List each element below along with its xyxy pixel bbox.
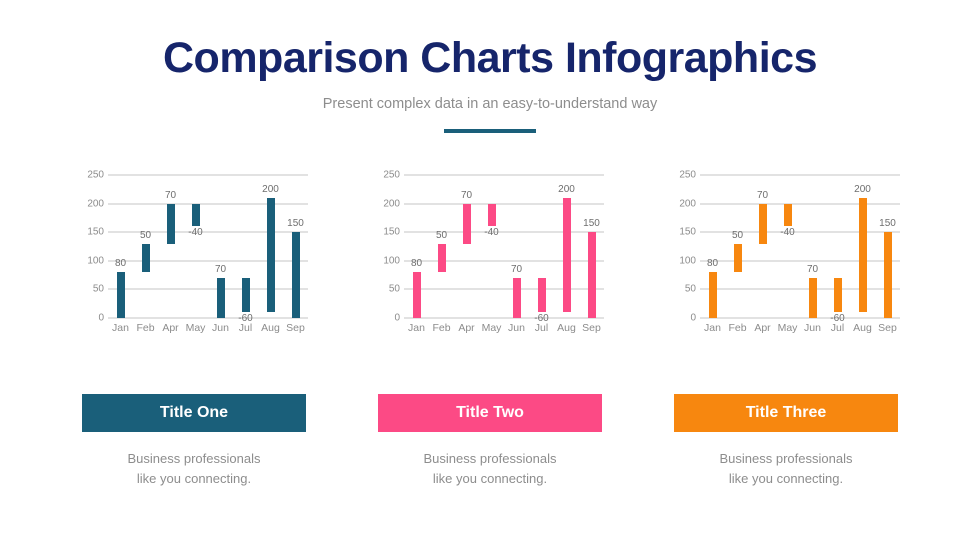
chart-bar-value-label: 200 [262, 184, 279, 195]
chart-bar[interactable] [117, 272, 125, 318]
waterfall-chart: 050100150200250805070-4070-60200150JanFe… [78, 175, 310, 350]
chart-bar[interactable] [142, 244, 150, 273]
column-title-label: Title One [160, 404, 228, 422]
chart-bar[interactable] [192, 204, 200, 227]
y-axis-tick-label: 200 [383, 198, 400, 209]
title-underline-accent [444, 129, 536, 133]
page-subtitle: Present complex data in an easy-to-under… [0, 96, 980, 112]
chart-bar-slot[interactable]: 200 [850, 175, 875, 318]
chart-bar-value-label: -40 [188, 227, 202, 238]
x-axis-tick-label: Apr [754, 322, 770, 334]
chart-bar-value-label: 80 [707, 258, 718, 269]
y-axis-tick-label: 250 [383, 170, 400, 181]
y-axis-tick-label: 0 [394, 313, 400, 324]
x-axis-tick-label: Aug [261, 322, 280, 334]
column-title-bar[interactable]: Title Three [674, 394, 898, 432]
chart-bar-slot[interactable]: -40 [183, 175, 208, 318]
chart-bar-value-label: 70 [757, 190, 768, 201]
chart-plot-area: 050100150200250805070-4070-60200150 [374, 175, 606, 327]
slide-header: Comparison Charts Infographics Present c… [0, 0, 980, 133]
comparison-column: 050100150200250805070-4070-60200150JanFe… [52, 175, 336, 489]
column-caption: Business professionalslike you connectin… [74, 449, 314, 489]
y-axis-tick-label: 100 [383, 255, 400, 266]
x-axis-tick-label: May [482, 322, 502, 334]
chart-bar[interactable] [267, 198, 275, 312]
y-axis-tick-label: 250 [679, 170, 696, 181]
chart-bar-slot[interactable]: 150 [875, 175, 900, 318]
chart-bar-value-label: -40 [780, 227, 794, 238]
x-axis-tick-label: Aug [557, 322, 576, 334]
column-title-label: Title Two [456, 404, 524, 422]
chart-bar-value-label: 150 [583, 218, 600, 229]
chart-bar[interactable] [167, 204, 175, 244]
waterfall-chart: 050100150200250805070-4070-60200150JanFe… [670, 175, 902, 350]
chart-bar-value-label: 50 [140, 230, 151, 241]
chart-bar[interactable] [242, 278, 250, 312]
x-axis-tick-label: May [186, 322, 206, 334]
comparison-column: 050100150200250805070-4070-60200150JanFe… [644, 175, 928, 489]
chart-bar-slot[interactable]: -60 [825, 175, 850, 318]
x-axis-tick-label: Jun [804, 322, 821, 334]
x-axis-tick-label: Feb [432, 322, 450, 334]
chart-bar-value-label: 200 [854, 184, 871, 195]
infographic-slide: Comparison Charts Infographics Present c… [0, 0, 980, 549]
x-axis-tick-label: Jan [408, 322, 425, 334]
chart-plot-area: 050100150200250805070-4070-60200150 [78, 175, 310, 327]
y-axis-labels: 050100150200250 [78, 175, 104, 318]
chart-bar[interactable] [784, 204, 792, 227]
chart-bar-value-label: 70 [807, 264, 818, 275]
comparison-columns: 050100150200250805070-4070-60200150JanFe… [0, 175, 980, 489]
chart-bar-slot[interactable]: 70 [750, 175, 775, 318]
column-caption: Business professionalslike you connectin… [370, 449, 610, 489]
chart-bar[interactable] [709, 272, 717, 318]
chart-bar-slot[interactable]: 150 [283, 175, 308, 318]
y-axis-tick-label: 0 [690, 313, 696, 324]
chart-bar-slot[interactable]: -40 [479, 175, 504, 318]
x-axis-tick-label: Jan [112, 322, 129, 334]
chart-bar-value-label: 150 [287, 218, 304, 229]
x-axis-labels: JanFebAprMayJunJulAugSep [108, 322, 308, 340]
y-axis-tick-label: 150 [383, 227, 400, 238]
y-axis-tick-label: 200 [679, 198, 696, 209]
chart-bar[interactable] [563, 198, 571, 312]
chart-bars: 805070-4070-60200150 [700, 175, 900, 318]
y-axis-tick-label: 100 [87, 255, 104, 266]
chart-bar-slot[interactable]: 50 [725, 175, 750, 318]
chart-bar-value-label: 80 [115, 258, 126, 269]
chart-bar-value-label: -40 [484, 227, 498, 238]
chart-bar[interactable] [834, 278, 842, 312]
x-axis-tick-label: Sep [582, 322, 601, 334]
chart-bar-slot[interactable]: 70 [504, 175, 529, 318]
chart-bar[interactable] [538, 278, 546, 312]
chart-bar-value-label: 150 [879, 218, 896, 229]
waterfall-chart: 050100150200250805070-4070-60200150JanFe… [374, 175, 606, 350]
chart-bar[interactable] [438, 244, 446, 273]
chart-grid: 805070-4070-60200150 [700, 175, 900, 318]
y-axis-tick-label: 0 [98, 313, 104, 324]
y-axis-tick-label: 250 [87, 170, 104, 181]
chart-bar-slot[interactable]: 50 [133, 175, 158, 318]
chart-grid: 805070-4070-60200150 [108, 175, 308, 318]
chart-bars: 805070-4070-60200150 [108, 175, 308, 318]
chart-bar-slot[interactable]: 70 [800, 175, 825, 318]
y-axis-tick-label: 50 [685, 284, 696, 295]
chart-bar-slot[interactable]: 80 [108, 175, 133, 318]
x-axis-tick-label: Feb [136, 322, 154, 334]
chart-bar-value-label: 70 [461, 190, 472, 201]
chart-bar[interactable] [588, 232, 596, 318]
chart-bar-value-label: 70 [511, 264, 522, 275]
chart-bar-value-label: 80 [411, 258, 422, 269]
chart-bar[interactable] [859, 198, 867, 312]
y-axis-tick-label: 50 [389, 284, 400, 295]
chart-bar-slot[interactable]: -40 [775, 175, 800, 318]
y-axis-tick-label: 200 [87, 198, 104, 209]
x-axis-tick-label: Sep [286, 322, 305, 334]
column-caption: Business professionalslike you connectin… [666, 449, 906, 489]
chart-bar[interactable] [759, 204, 767, 244]
chart-bar-value-label: 70 [165, 190, 176, 201]
chart-bar[interactable] [413, 272, 421, 318]
x-axis-tick-label: Apr [162, 322, 178, 334]
chart-bar[interactable] [463, 204, 471, 244]
chart-bar[interactable] [292, 232, 300, 318]
chart-bar[interactable] [513, 278, 521, 318]
y-axis-tick-label: 100 [679, 255, 696, 266]
y-axis-labels: 050100150200250 [374, 175, 400, 318]
column-caption-line-2: like you connecting. [74, 469, 314, 489]
chart-bar-value-label: 70 [215, 264, 226, 275]
column-caption-line-1: Business professionals [74, 449, 314, 469]
x-axis-tick-label: Jun [212, 322, 229, 334]
column-title-bar[interactable]: Title One [82, 394, 306, 432]
chart-bar[interactable] [809, 278, 817, 318]
x-axis-tick-label: Jan [704, 322, 721, 334]
x-axis-tick-label: Jun [508, 322, 525, 334]
chart-bar-slot[interactable]: 200 [554, 175, 579, 318]
chart-bar-slot[interactable]: 70 [158, 175, 183, 318]
x-axis-tick-label: Jul [239, 322, 252, 334]
chart-bar-slot[interactable]: 200 [258, 175, 283, 318]
x-axis-tick-label: May [778, 322, 798, 334]
chart-bar-value-label: 200 [558, 184, 575, 195]
column-caption-line-2: like you connecting. [666, 469, 906, 489]
y-axis-tick-label: 50 [93, 284, 104, 295]
x-axis-tick-label: Apr [458, 322, 474, 334]
x-axis-tick-label: Jul [831, 322, 844, 334]
x-axis-tick-label: Jul [535, 322, 548, 334]
column-title-label: Title Three [746, 404, 827, 422]
column-caption-line-1: Business professionals [370, 449, 610, 469]
chart-bar-slot[interactable]: 50 [429, 175, 454, 318]
y-axis-tick-label: 150 [679, 227, 696, 238]
chart-bar[interactable] [488, 204, 496, 227]
chart-plot-area: 050100150200250805070-4070-60200150 [670, 175, 902, 327]
chart-bar[interactable] [884, 232, 892, 318]
chart-bar-slot[interactable]: 80 [700, 175, 725, 318]
chart-bar-slot[interactable]: -60 [529, 175, 554, 318]
chart-grid: 805070-4070-60200150 [404, 175, 604, 318]
chart-bar-value-label: 50 [732, 230, 743, 241]
y-axis-tick-label: 150 [87, 227, 104, 238]
x-axis-labels: JanFebAprMayJunJulAugSep [404, 322, 604, 340]
comparison-column: 050100150200250805070-4070-60200150JanFe… [348, 175, 632, 489]
page-title: Comparison Charts Infographics [0, 36, 980, 81]
chart-bar[interactable] [734, 244, 742, 273]
chart-bar[interactable] [217, 278, 225, 318]
x-axis-tick-label: Feb [728, 322, 746, 334]
chart-bar-value-label: 50 [436, 230, 447, 241]
chart-bars: 805070-4070-60200150 [404, 175, 604, 318]
x-axis-tick-label: Sep [878, 322, 897, 334]
chart-bar-slot[interactable]: 70 [208, 175, 233, 318]
chart-bar-slot[interactable]: 70 [454, 175, 479, 318]
chart-bar-slot[interactable]: 80 [404, 175, 429, 318]
y-axis-labels: 050100150200250 [670, 175, 696, 318]
x-axis-labels: JanFebAprMayJunJulAugSep [700, 322, 900, 340]
chart-bar-slot[interactable]: 150 [579, 175, 604, 318]
chart-bar-slot[interactable]: -60 [233, 175, 258, 318]
column-title-bar[interactable]: Title Two [378, 394, 602, 432]
x-axis-tick-label: Aug [853, 322, 872, 334]
column-caption-line-1: Business professionals [666, 449, 906, 469]
column-caption-line-2: like you connecting. [370, 469, 610, 489]
